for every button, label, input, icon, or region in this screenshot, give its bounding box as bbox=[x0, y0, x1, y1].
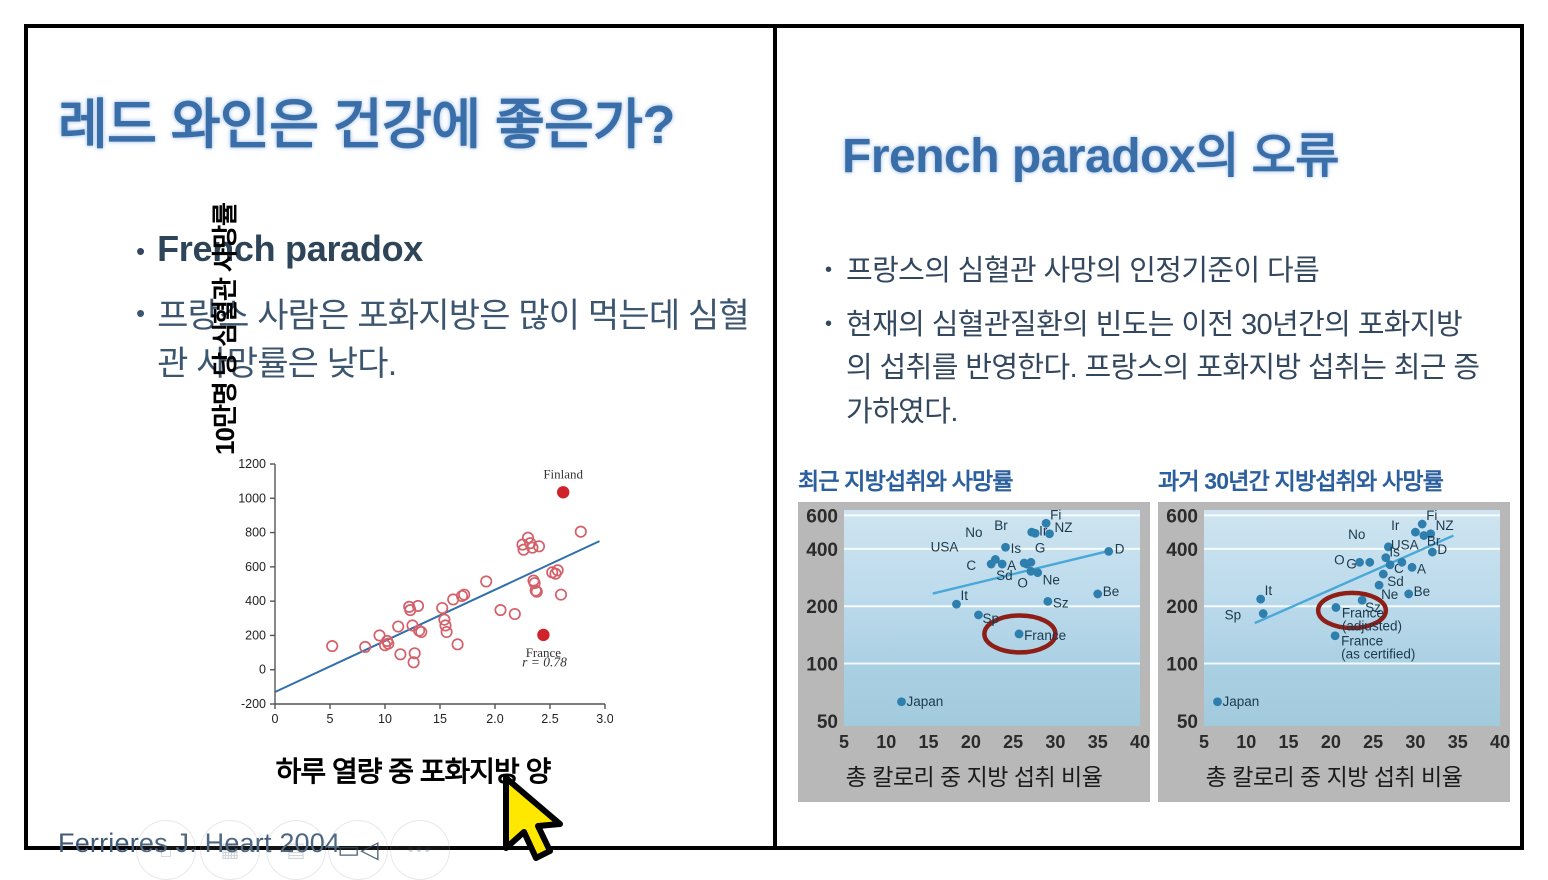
svg-text:2.0: 2.0 bbox=[486, 712, 503, 726]
svg-text:D: D bbox=[1115, 541, 1125, 556]
svg-text:35: 35 bbox=[1088, 732, 1108, 752]
svg-text:Ne: Ne bbox=[1381, 587, 1398, 602]
svg-text:Sp: Sp bbox=[982, 611, 999, 626]
mini-chart-title: 과거 30년간 지방섭취와 사망률 bbox=[1158, 462, 1510, 496]
svg-text:600: 600 bbox=[245, 560, 266, 574]
scatter-x-axis-label: 하루 열량 중 포화지방 양 bbox=[143, 750, 683, 790]
scatter-plot-svg: -2000200400600800100012000510152.02.53.0… bbox=[213, 450, 613, 750]
bullet-marker-icon: • bbox=[136, 238, 145, 264]
svg-text:3.0: 3.0 bbox=[596, 712, 613, 726]
scatter-y-axis-label: 10만명 당 심혈관 사망률 bbox=[205, 164, 249, 494]
svg-text:10: 10 bbox=[876, 732, 896, 752]
mini-chart-body: 총 칼로리 중 지방 섭취 비율 50100200400600510152025… bbox=[1158, 502, 1510, 802]
svg-text:40: 40 bbox=[1130, 732, 1150, 752]
bullet-marker-icon: • bbox=[825, 260, 832, 280]
people-icon[interactable]: ▦ bbox=[200, 820, 260, 880]
svg-text:Ir: Ir bbox=[1391, 518, 1400, 533]
svg-text:15: 15 bbox=[1279, 732, 1299, 752]
svg-text:30: 30 bbox=[1405, 732, 1425, 752]
svg-text:35: 35 bbox=[1448, 732, 1468, 752]
svg-text:Sd: Sd bbox=[996, 568, 1013, 583]
svg-text:O: O bbox=[1334, 552, 1345, 567]
mini-chart-past30: 과거 30년간 지방섭취와 사망률 총 칼로리 중 지방 섭취 비율 50100… bbox=[1158, 462, 1510, 802]
svg-text:2.5: 2.5 bbox=[541, 712, 558, 726]
svg-text:France: France bbox=[1024, 628, 1066, 643]
svg-text:Japan: Japan bbox=[1223, 694, 1260, 709]
svg-text:30: 30 bbox=[1045, 732, 1065, 752]
svg-text:400: 400 bbox=[806, 540, 838, 561]
svg-text:100: 100 bbox=[1166, 655, 1198, 676]
svg-text:(as certified): (as certified) bbox=[1341, 647, 1415, 662]
svg-text:O: O bbox=[1017, 575, 1028, 590]
slide-left: 레드 와인은 건강에 좋은가? • French paradox • 프랑스 사… bbox=[28, 28, 773, 846]
svg-text:25: 25 bbox=[1363, 732, 1383, 752]
slide-right-bullets: • 프랑스의 심혈관 사망의 인정기준이 다름 • 현재의 심혈관질환의 빈도는… bbox=[825, 250, 1485, 444]
svg-text:40: 40 bbox=[1490, 732, 1510, 752]
svg-text:50: 50 bbox=[817, 712, 838, 733]
home-icon[interactable]: ⌂ bbox=[136, 820, 196, 880]
svg-text:NZ: NZ bbox=[1055, 520, 1073, 535]
slide-right-title: French paradox의 오류 bbox=[842, 116, 1339, 186]
svg-text:Sz: Sz bbox=[1053, 595, 1069, 610]
svg-text:100: 100 bbox=[806, 655, 838, 676]
svg-text:It: It bbox=[960, 588, 968, 603]
svg-text:Be: Be bbox=[1103, 584, 1120, 599]
svg-text:Is: Is bbox=[1011, 541, 1022, 556]
svg-text:Ne: Ne bbox=[1043, 573, 1060, 588]
svg-text:10: 10 bbox=[1236, 732, 1256, 752]
bullet-text: 프랑스의 심혈관 사망의 인정기준이 다름 bbox=[846, 250, 1485, 294]
svg-text:Japan: Japan bbox=[907, 694, 944, 709]
slide-left-title: 레드 와인은 건강에 좋은가? bbox=[58, 80, 675, 159]
bullet-item: • 현재의 심혈관질환의 빈도는 이전 30년간의 포화지방의 섭취를 반영한다… bbox=[825, 304, 1485, 435]
svg-text:10: 10 bbox=[378, 712, 392, 726]
slide-pair-screenshot: 레드 와인은 건강에 좋은가? • French paradox • 프랑스 사… bbox=[0, 0, 1548, 878]
svg-text:5: 5 bbox=[327, 712, 334, 726]
svg-text:0: 0 bbox=[272, 712, 279, 726]
svg-text:r = 0.78: r = 0.78 bbox=[522, 654, 567, 669]
mini-chart-recent: 최근 지방섭취와 사망률 총 칼로리 중 지방 섭취 비율 5010020040… bbox=[798, 462, 1150, 802]
svg-text:600: 600 bbox=[806, 506, 838, 527]
svg-text:G: G bbox=[1346, 556, 1357, 571]
saturated-fat-scatter-figure: 10만명 당 심혈관 사망률 -200020040060080010001200… bbox=[213, 450, 613, 790]
bullet-marker-icon: • bbox=[136, 300, 145, 326]
svg-text:No: No bbox=[1348, 527, 1365, 542]
svg-text:5: 5 bbox=[1199, 732, 1209, 752]
svg-text:0: 0 bbox=[259, 663, 266, 677]
mini-scatter-svg: 50100200400600510152025303540FiIrNZBrNoU… bbox=[1158, 502, 1510, 802]
bullet-text: 현재의 심혈관질환의 빈도는 이전 30년간의 포화지방의 섭취를 반영한다. … bbox=[846, 304, 1485, 435]
svg-text:Br: Br bbox=[994, 518, 1008, 533]
svg-text:15: 15 bbox=[919, 732, 939, 752]
mini-chart-title: 최근 지방섭취와 사망률 bbox=[798, 462, 1150, 496]
mini-chart-body: 총 칼로리 중 지방 섭취 비율 50100200400600510152025… bbox=[798, 502, 1150, 802]
svg-text:C: C bbox=[966, 558, 976, 573]
svg-text:Is: Is bbox=[1389, 544, 1400, 559]
video-camera-icon[interactable]: ▭◁ bbox=[328, 820, 388, 880]
svg-text:Be: Be bbox=[1414, 584, 1431, 599]
svg-text:Sp: Sp bbox=[1225, 608, 1242, 623]
svg-text:15: 15 bbox=[433, 712, 447, 726]
svg-text:G: G bbox=[1035, 540, 1046, 555]
svg-text:NZ: NZ bbox=[1436, 518, 1454, 533]
svg-text:USA: USA bbox=[931, 539, 959, 554]
bullet-item: • 프랑스의 심혈관 사망의 인정기준이 다름 bbox=[825, 250, 1485, 294]
svg-text:D: D bbox=[1437, 542, 1447, 557]
svg-text:200: 200 bbox=[245, 628, 266, 642]
svg-text:5: 5 bbox=[839, 732, 849, 752]
svg-text:20: 20 bbox=[1321, 732, 1341, 752]
more-icon[interactable]: ••• bbox=[390, 820, 450, 880]
svg-text:200: 200 bbox=[806, 597, 838, 618]
svg-text:It: It bbox=[1265, 583, 1273, 598]
svg-text:-200: -200 bbox=[241, 697, 266, 711]
svg-text:Finland: Finland bbox=[543, 466, 583, 481]
bullet-marker-icon: • bbox=[825, 314, 832, 334]
chat-icon[interactable]: ▤ bbox=[266, 820, 326, 880]
svg-text:200: 200 bbox=[1166, 597, 1198, 618]
svg-text:400: 400 bbox=[1166, 540, 1198, 561]
svg-text:A: A bbox=[1417, 561, 1426, 576]
svg-text:50: 50 bbox=[1177, 712, 1198, 733]
svg-text:(adjusted): (adjusted) bbox=[1342, 618, 1402, 633]
mouse-pointer-icon bbox=[494, 770, 574, 870]
svg-text:No: No bbox=[965, 525, 982, 540]
svg-text:600: 600 bbox=[1166, 506, 1198, 527]
svg-text:400: 400 bbox=[245, 594, 266, 608]
svg-text:20: 20 bbox=[961, 732, 981, 752]
mini-scatter-svg: 50100200400600510152025303540FiBrIrNZNoU… bbox=[798, 502, 1150, 802]
svg-text:800: 800 bbox=[245, 526, 266, 540]
svg-text:25: 25 bbox=[1003, 732, 1023, 752]
